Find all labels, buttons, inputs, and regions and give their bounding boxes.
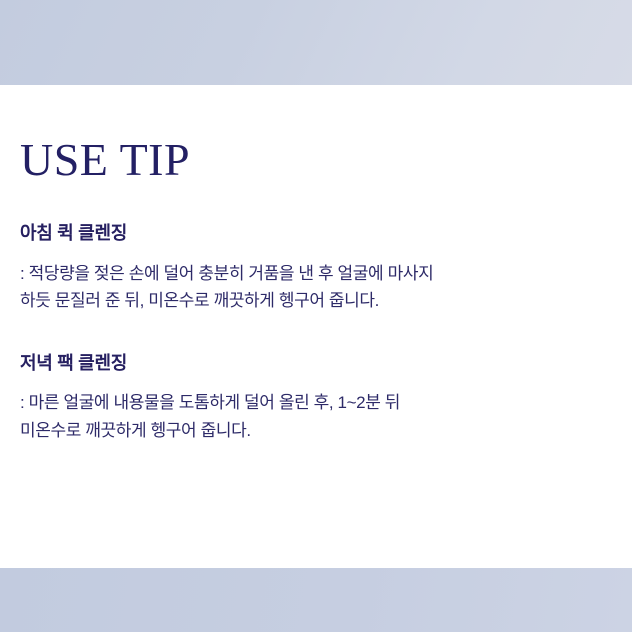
tip-sections: 아침 퀵 클렌징 : 적당량을 젖은 손에 덜어 충분히 거품을 낸 후 얼굴에… xyxy=(20,223,612,444)
section-body-evening: : 마른 얼굴에 내용물을 도톰하게 덜어 올린 후, 1~2분 뒤 미온수로 … xyxy=(20,389,612,444)
top-decorative-band xyxy=(0,0,632,85)
card-content: USE TIP 아침 퀵 클렌징 : 적당량을 젖은 손에 덜어 충분히 거품을… xyxy=(0,85,632,568)
page-title: USE TIP xyxy=(20,137,190,183)
section-heading-evening: 저녁 팩 클렌징 xyxy=(20,353,612,375)
body-line: : 적당량을 젖은 손에 덜어 충분히 거품을 낸 후 얼굴에 마사지 xyxy=(20,260,612,288)
bottom-decorative-band xyxy=(0,568,632,632)
tip-section-evening: 저녁 팩 클렌징 : 마른 얼굴에 내용물을 도톰하게 덜어 올린 후, 1~2… xyxy=(20,353,612,445)
tip-section-morning: 아침 퀵 클렌징 : 적당량을 젖은 손에 덜어 충분히 거품을 낸 후 얼굴에… xyxy=(20,223,612,315)
body-line: 하듯 문질러 준 뒤, 미온수로 깨끗하게 헹구어 줍니다. xyxy=(20,287,612,315)
section-body-morning: : 적당량을 젖은 손에 덜어 충분히 거품을 낸 후 얼굴에 마사지 하듯 문… xyxy=(20,260,612,315)
use-tip-card: USE TIP 아침 퀵 클렌징 : 적당량을 젖은 손에 덜어 충분히 거품을… xyxy=(0,0,632,632)
section-heading-morning: 아침 퀵 클렌징 xyxy=(20,223,612,245)
body-line: 미온수로 깨끗하게 헹구어 줍니다. xyxy=(20,417,612,445)
body-line: : 마른 얼굴에 내용물을 도톰하게 덜어 올린 후, 1~2분 뒤 xyxy=(20,389,612,417)
